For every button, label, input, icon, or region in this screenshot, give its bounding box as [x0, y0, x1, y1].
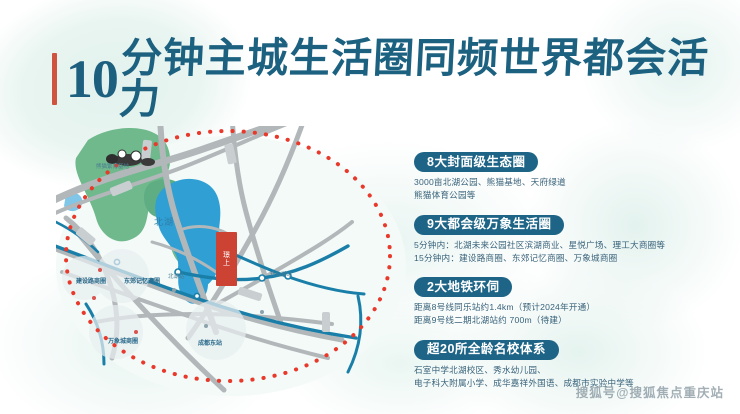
badge-metro: 2大地铁环伺 [414, 277, 512, 297]
map-poi-mixc: 万象城商圈 [108, 336, 138, 345]
location-map[interactable]: 北湖 璟上 建设路商圈 东郊记忆商圈 万象城商圈 成都东站 北湖站 升仙湖站 熊… [56, 126, 406, 402]
desc-line: 石室中学北湖校区、秀水幼儿园、 [414, 364, 714, 377]
map-poi-panda-base: 熊猫繁育基地 [96, 162, 129, 170]
project-location-marker[interactable]: 璟上 [216, 232, 237, 286]
badge-schools: 超20所全龄名校体系 [414, 340, 559, 360]
desc-line: 熊猫体育公园等 [414, 189, 714, 202]
map-poi-dongjiao-memory: 东郊记忆商圈 [124, 276, 160, 285]
desc-metro: 距离8号线同乐站约1.4km（预计2024年开通） 距离9号线二期北湖站约 70… [414, 301, 714, 327]
desc-commerce: 5分钟内：北湖未来公园社区滨湖商业、星悦广场、理工大商圈等 15分钟内：建设路商… [414, 239, 714, 265]
map-poi-beihu-station: 北湖站 [168, 272, 185, 280]
desc-line: 5分钟内：北湖未来公园社区滨湖商业、星悦广场、理工大商圈等 [414, 239, 714, 252]
desc-line: 距离9号线二期北湖站约 700m（待建） [414, 314, 714, 327]
title-text: 分钟主城生活圈同频世界都会活力 [118, 38, 740, 120]
watermark: 搜狐号@搜狐焦点重庆站 [576, 382, 724, 401]
map-poi-shengxianhu: 升仙湖站 [270, 270, 292, 278]
info-block-ecology: 8大封面级生态圈 3000亩北湖公园、熊猫基地、天府绿道 熊猫体育公园等 [414, 152, 714, 203]
desc-line: 15分钟内：建设路商圈、东郊记忆商圈、万象城商圈 [414, 252, 714, 265]
desc-line: 3000亩北湖公园、熊猫基地、天府绿道 [414, 176, 714, 189]
project-marker-label: 璟上 [222, 251, 232, 267]
info-block-metro: 2大地铁环伺 距离8号线同乐站约1.4km（预计2024年开通） 距离9号线二期… [414, 277, 714, 328]
map-label-north-lake: 北湖 [154, 215, 174, 228]
page-title: 10 分钟主城生活圈同频世界都会活力 [52, 48, 740, 110]
map-poi-east-station: 成都东站 [198, 338, 222, 347]
title-accent-bar [52, 53, 57, 105]
poster-root: 10 分钟主城生活圈同频世界都会活力 [0, 0, 740, 414]
info-blocks-column: 8大封面级生态圈 3000亩北湖公园、熊猫基地、天府绿道 熊猫体育公园等 9大都… [414, 152, 714, 402]
badge-ecology: 8大封面级生态圈 [414, 152, 538, 172]
title-number: 10 [66, 52, 118, 106]
desc-line: 距离8号线同乐站约1.4km（预计2024年开通） [414, 301, 714, 314]
info-block-commerce: 9大都会级万象生活圈 5分钟内：北湖未来公园社区滨湖商业、星悦广场、理工大商圈等… [414, 215, 714, 266]
badge-commerce: 9大都会级万象生活圈 [414, 215, 564, 235]
map-poi-jianshe-road: 建设路商圈 [76, 276, 106, 285]
desc-ecology: 3000亩北湖公园、熊猫基地、天府绿道 熊猫体育公园等 [414, 176, 714, 202]
